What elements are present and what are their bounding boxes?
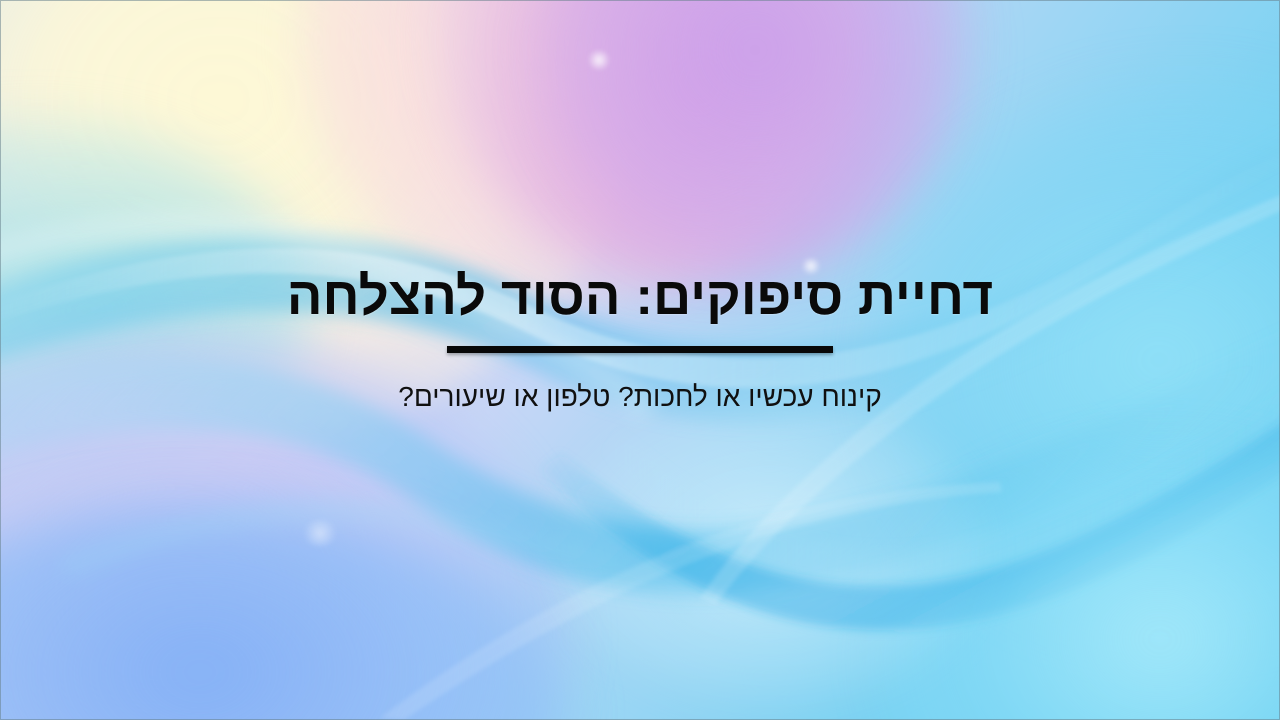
wave-wisp-lower-left <box>60 500 700 616</box>
background-glow-white <box>560 400 980 700</box>
background-sparkle <box>586 50 612 70</box>
slide-title: דחיית סיפוקים: הסוד להצלחה <box>0 268 1280 325</box>
wave-ribbon-lower-right <box>540 398 1280 630</box>
slide-subtitle: קינוח עכשיו או לחכות? טלפון או שיעורים? <box>0 380 1280 414</box>
title-divider <box>447 346 833 353</box>
background-glow-pink <box>440 0 960 290</box>
presentation-slide: דחיית סיפוקים: הסוד להצלחה קינוח עכשיו א… <box>0 0 1280 720</box>
wave-streak-lower <box>380 482 1002 720</box>
background-glow-cyan-lower <box>880 450 1280 720</box>
slide-text-block: דחיית סיפוקים: הסוד להצלחה קינוח עכשיו א… <box>0 268 1280 414</box>
background-sparkle <box>300 520 340 546</box>
background-glow-violet <box>540 0 970 260</box>
background-glow-blue <box>0 500 570 720</box>
background-glow-peach <box>300 0 860 300</box>
title-divider-wrap <box>0 346 1280 353</box>
